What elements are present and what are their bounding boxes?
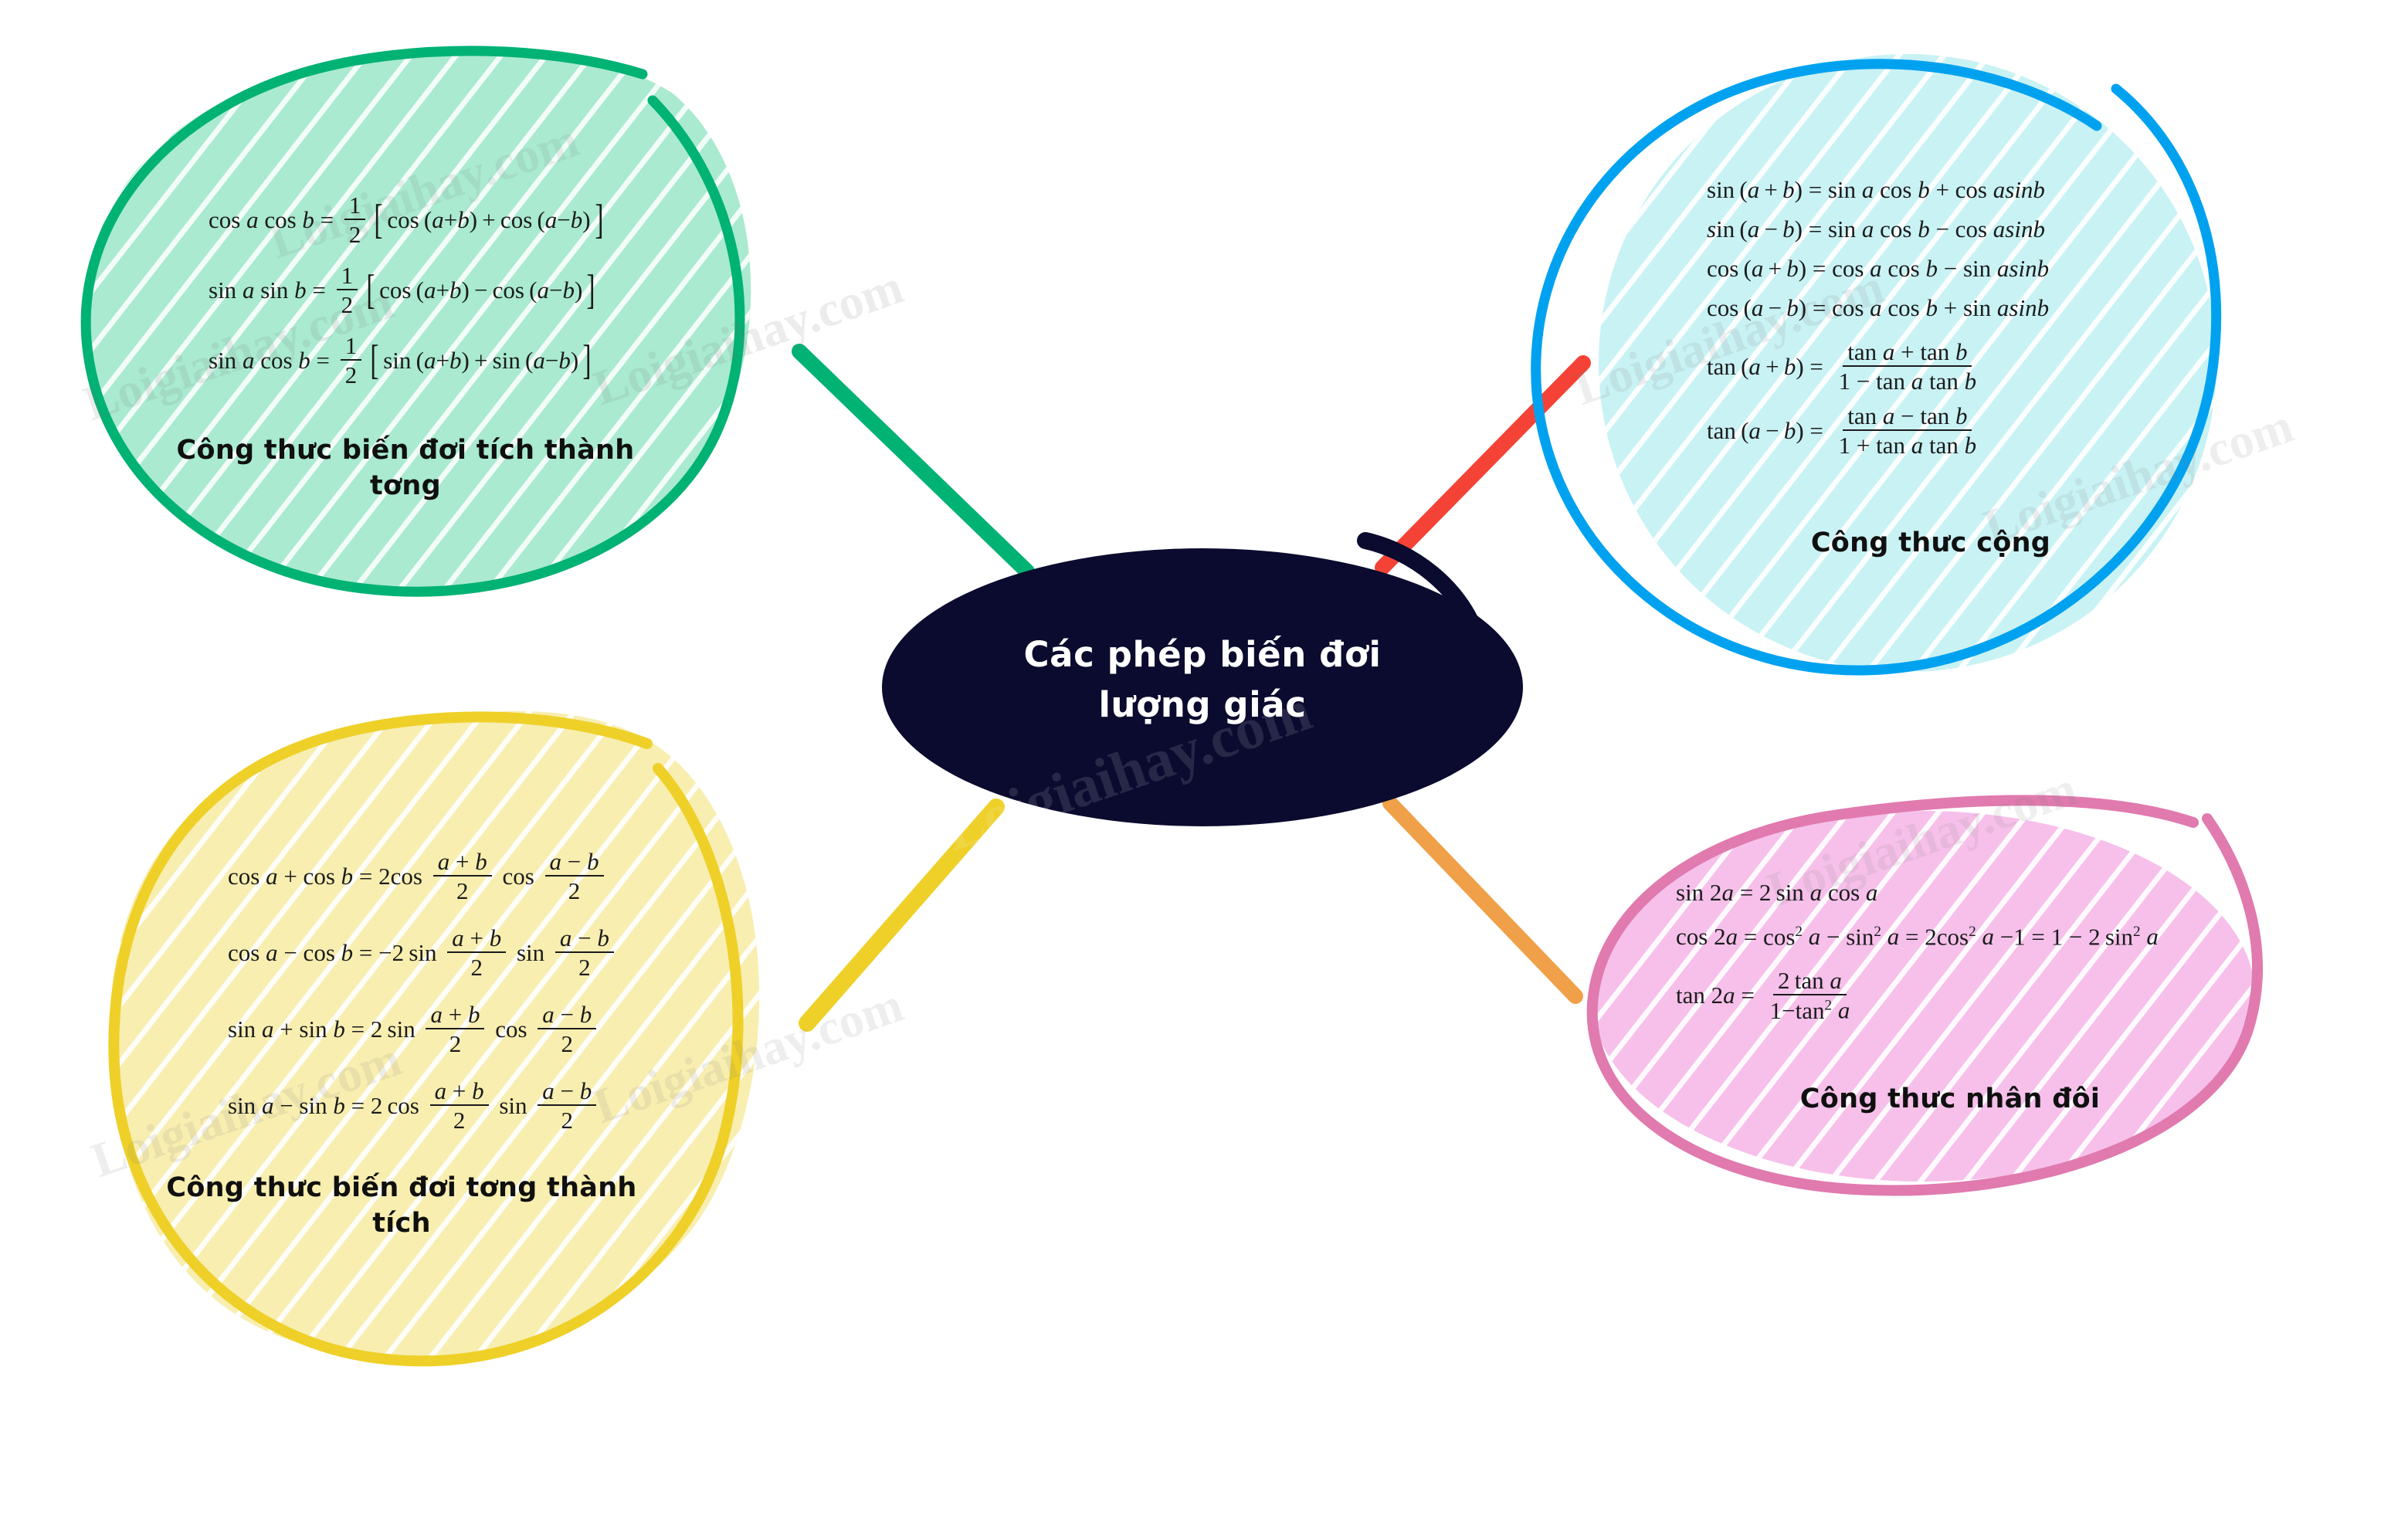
formula-row: cos (a + b) = cos a cos b − sin asinb — [1707, 256, 2255, 280]
formula-list-nhan-doi: sin 2a = 2 sin a cos a cos 2a = cos2 a −… — [1591, 880, 2271, 1039]
center-title-line-1: Các phép biến đơi — [1024, 634, 1382, 675]
formula-row: sin a cos b = 12[sin (a+b) + sin (a−b)] — [209, 334, 788, 387]
connector-red — [1382, 363, 1583, 568]
node-tich-thanh-tong[interactable]: cos a cos b = 12[cos (a+b) + cos (a−b)] … — [93, 46, 788, 602]
formula-row: cos a − cos b = −2 sin a + b2 sin a − b2 — [228, 926, 772, 979]
center-title: Các phép biến đơi lượng giác — [882, 629, 1523, 731]
formula-row: sin 2a = 2 sin a cos a — [1676, 880, 2271, 904]
center-title-line-2: lượng giác — [1099, 684, 1307, 725]
label-line-2: tích — [372, 1208, 431, 1239]
formula-row: cos a + cos b = 2cos a + b2 cos a − b2 — [228, 849, 772, 903]
formula-row: tan (a + b) = tan a + tan b1 − tan a tan… — [1707, 340, 2255, 393]
center-node-content[interactable]: Các phép biến đơi lượng giác Loigiaihay.… — [882, 548, 1523, 826]
formula-list-tong-thanh-tich: cos a + cos b = 2cos a + b2 cos a − b2 c… — [108, 849, 772, 1149]
formula-row: cos a cos b = 12[cos (a+b) + cos (a−b)] — [209, 193, 788, 246]
label-line-1: Công thưc biến đơi tơng thành — [166, 1172, 636, 1203]
formula-row: tan 2a = 2 tan a1−tan2 a — [1676, 968, 2271, 1022]
formula-row: sin (a + b) = sin a cos b + cos asinb — [1707, 178, 2255, 202]
formula-list-cong: sin (a + b) = sin a cos b + cos asinb si… — [1591, 178, 2255, 474]
formula-row: sin a + sin b = 2 sin a + b2 cos a − b2 — [228, 1002, 772, 1056]
node-cong[interactable]: sin (a + b) = sin a cos b + cos asinb si… — [1591, 70, 2255, 680]
formula-row: cos 2a = cos2 a − sin2 a = 2cos2 a −1 = … — [1676, 924, 2271, 948]
formula-row: sin (a − b) = sin a cos b − cos asinb — [1707, 217, 2255, 241]
node-tong-thanh-tich[interactable]: cos a + cos b = 2cos a + b2 cos a − b2 c… — [108, 718, 772, 1367]
formula-list-tich-thanh-tong: cos a cos b = 12[cos (a+b) + cos (a−b)] … — [93, 193, 788, 404]
label-line-2: tơng — [370, 470, 441, 501]
mindmap-canvas: Loigiaihay.com Loigiaihay.com Loigiaihay… — [0, 0, 2408, 1526]
label-line-1: Công thưc biến đơi tích thành — [177, 435, 635, 466]
node-nhan-doi[interactable]: sin 2a = 2 sin a cos a cos 2a = cos2 a −… — [1591, 811, 2271, 1189]
branch-label-cong: Công thưc cộng — [1699, 525, 2162, 561]
connector-orange — [1390, 803, 1575, 996]
connector-green — [799, 351, 1027, 571]
branch-label-nhan-doi: Công thưc nhân đôi — [1691, 1081, 2209, 1117]
branch-label-tong-thanh-tich: Công thưc biến đơi tơng thành tích — [124, 1170, 680, 1241]
formula-row: sin a sin b = 12[cos (a+b) − cos (a−b)] — [209, 263, 788, 317]
formula-row: sin a − sin b = 2 cos a + b2 sin a − b2 — [228, 1079, 772, 1132]
formula-row: tan (a − b) = tan a − tan b1 + tan a tan… — [1707, 404, 2255, 457]
connector-yellow — [807, 807, 996, 1023]
formula-row: cos (a − b) = cos a cos b + sin asinb — [1707, 296, 2255, 320]
branch-label-tich-thanh-tong: Công thưc biến đơi tích thành tơng — [124, 432, 687, 504]
